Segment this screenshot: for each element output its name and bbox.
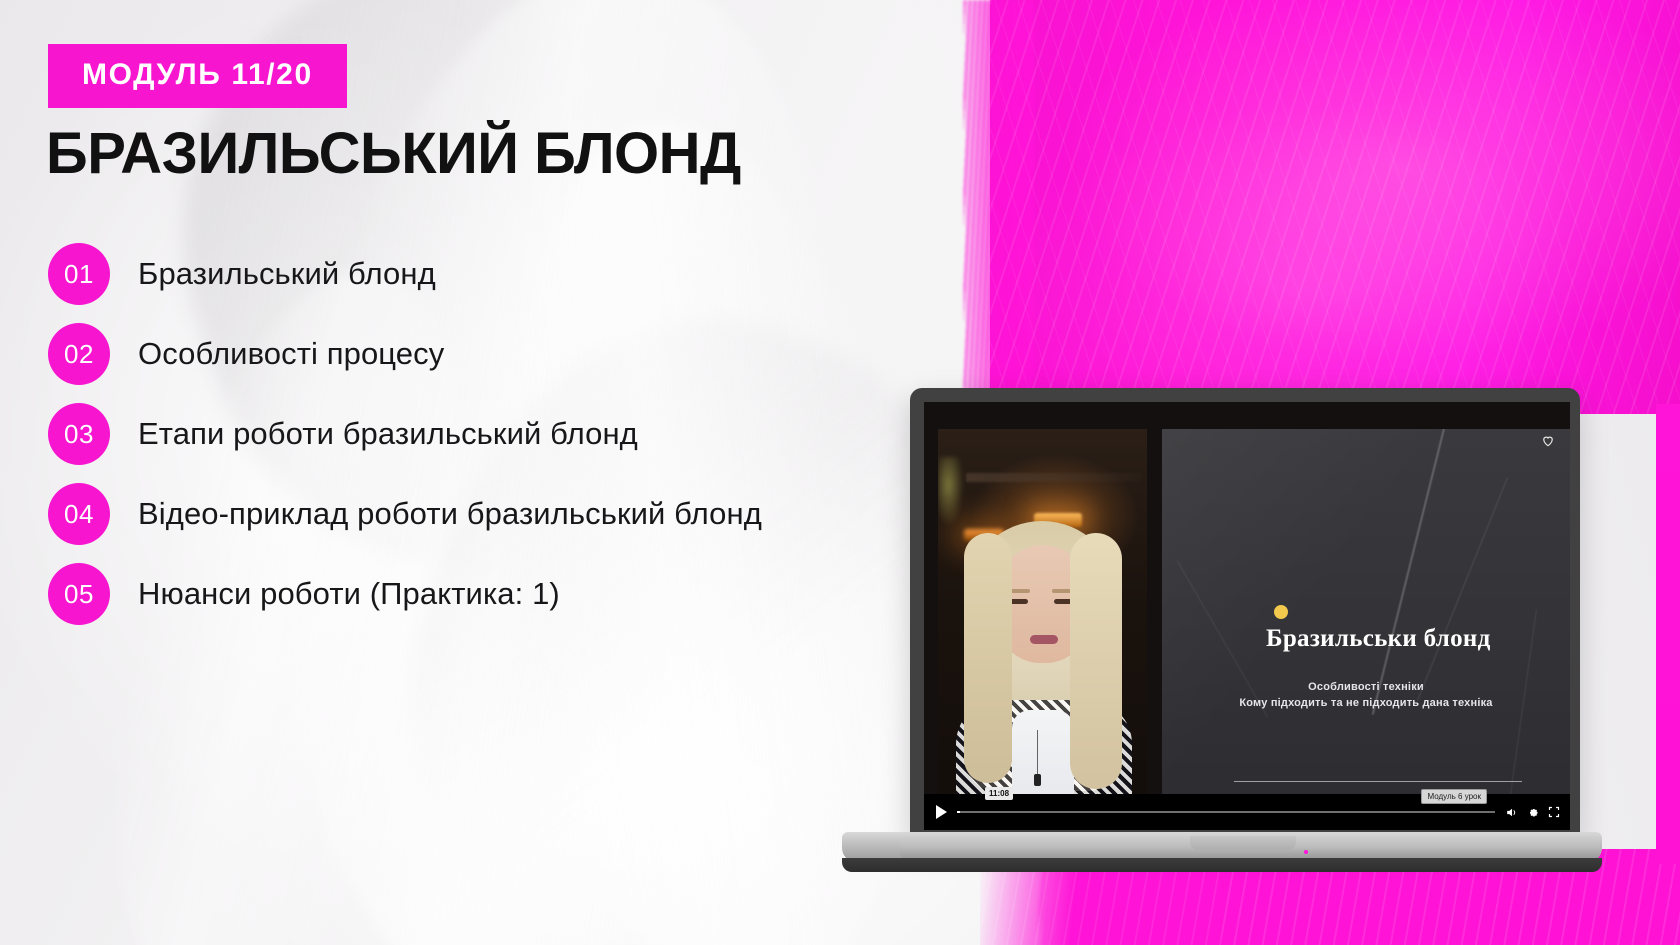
video-slide-subtitle-1: Особливості техніки — [1162, 681, 1570, 693]
video-slide-heading: Бразильськи блонд — [1266, 625, 1491, 653]
video-control-bar[interactable]: 11:08 Модуль 6 урок — [924, 794, 1570, 830]
agenda-list: 01 Бразильський блонд 02 Особливості про… — [48, 234, 948, 634]
player-right-controls[interactable] — [1505, 806, 1560, 819]
agenda-item-04: 04 Відео-приклад роботи бразильський бло… — [48, 474, 948, 554]
marble-vein — [1372, 429, 1447, 715]
laptop-lid: Бразильськи блонд Особливості техніки Ко… — [910, 388, 1580, 840]
presenter-lips — [1030, 635, 1058, 644]
lapel-microphone — [1034, 774, 1041, 786]
video-slide-divider — [1234, 781, 1522, 782]
video-slide-subtitle-2: Кому підходить та не підходить дана техн… — [1162, 697, 1570, 709]
agenda-number-badge: 01 — [48, 243, 110, 305]
marble-vein — [1508, 610, 1537, 808]
video-presentation-slide: Бразильськи блонд Особливості техніки Ко… — [1162, 429, 1570, 830]
webcam-feed — [938, 429, 1147, 830]
microphone-wire — [1037, 730, 1038, 774]
agenda-item-label: Відео-приклад роботи бразильський блонд — [138, 496, 762, 532]
heart-icon[interactable] — [1540, 434, 1556, 450]
agenda-number-badge: 03 — [48, 403, 110, 465]
agenda-number-badge: 05 — [48, 563, 110, 625]
agenda-item-label: Бразильський блонд — [138, 256, 436, 292]
agenda-number-badge: 04 — [48, 483, 110, 545]
presenter-hair-front-right — [1070, 533, 1122, 789]
laptop-foot — [842, 858, 1602, 872]
laptop-mockup: Бразильськи блонд Особливості техніки Ко… — [900, 388, 1680, 888]
agenda-number-badge: 02 — [48, 323, 110, 385]
page-title: БРАЗИЛЬСЬКИЙ БЛОНД — [46, 124, 741, 185]
progress-bar[interactable]: 11:08 Модуль 6 урок — [957, 811, 1495, 813]
lesson-title-tooltip: Модуль 6 урок — [1421, 789, 1487, 804]
agenda-item-label: Особливості процесу — [138, 336, 444, 372]
laptop-notch — [1190, 836, 1296, 850]
magenta-paint-block — [990, 0, 1680, 414]
module-badge: МОДУЛЬ 11/20 — [48, 44, 347, 108]
progress-fill — [957, 811, 960, 813]
gear-icon[interactable] — [1527, 806, 1539, 818]
volume-icon[interactable] — [1505, 806, 1518, 819]
agenda-item-label: Нюанси роботи (Практика: 1) — [138, 576, 560, 612]
marble-vein — [1177, 561, 1268, 717]
presenter-hair-front-left — [964, 533, 1012, 783]
presenter-eye-left — [1010, 599, 1028, 604]
agenda-item-01: 01 Бразильський блонд — [48, 234, 948, 314]
shelf-decor — [966, 473, 1142, 482]
video-player[interactable]: Бразильськи блонд Особливості техніки Ко… — [924, 402, 1570, 830]
fullscreen-icon[interactable] — [1548, 806, 1560, 818]
agenda-item-label: Етапи роботи бразильський блонд — [138, 416, 638, 452]
laptop-screen: Бразильськи блонд Особливості техніки Ко… — [924, 402, 1570, 830]
yellow-dot-icon — [1274, 605, 1288, 619]
marble-vein — [1417, 478, 1508, 701]
presentation-slide: МОДУЛЬ 11/20 БРАЗИЛЬСЬКИЙ БЛОНД 01 Брази… — [0, 0, 1680, 945]
pink-speck-decor — [1304, 850, 1308, 854]
current-time-tooltip: 11:08 — [985, 787, 1013, 800]
agenda-item-05: 05 Нюанси роботи (Практика: 1) — [48, 554, 948, 634]
plant-decor — [938, 457, 964, 527]
play-icon[interactable] — [936, 805, 947, 819]
agenda-item-02: 02 Особливості процесу — [48, 314, 948, 394]
agenda-item-03: 03 Етапи роботи бразильський блонд — [48, 394, 948, 474]
